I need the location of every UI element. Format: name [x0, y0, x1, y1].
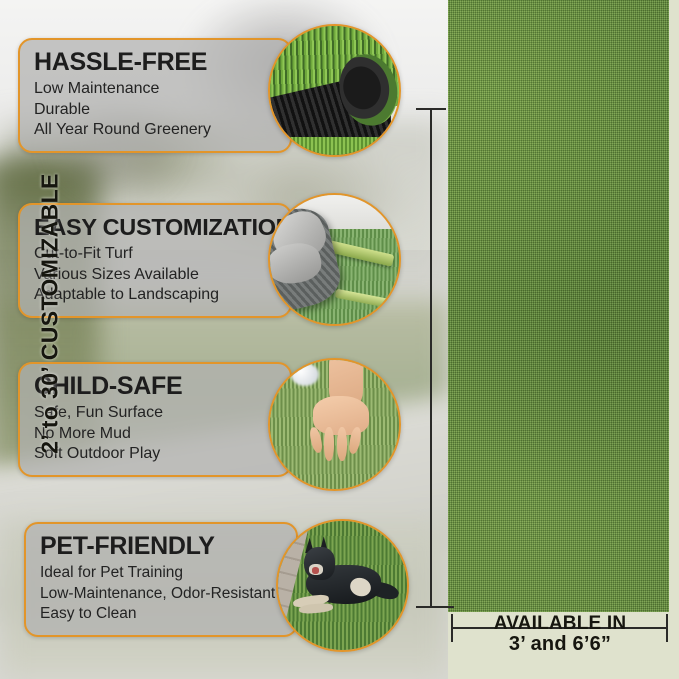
- feature-line: Various Sizes Available: [34, 265, 278, 286]
- turf-roll-photo: [268, 24, 401, 157]
- child-hand-on-grass-photo: [268, 358, 401, 491]
- feature-line: No More Mud: [34, 424, 278, 445]
- feature-line: Low Maintenance: [34, 79, 278, 100]
- feature-line: Low-Maintenance, Odor-Resistant: [40, 584, 284, 605]
- feature-line: All Year Round Greenery: [34, 120, 278, 141]
- child-finger: [337, 427, 347, 461]
- turf-bottom-edge: [268, 137, 401, 157]
- feature-title: PET-FRIENDLY: [40, 533, 284, 560]
- blurred-ball: [291, 363, 319, 386]
- feature-title: CHILD-SAFE: [34, 373, 278, 400]
- turf-swatch: [448, 0, 669, 612]
- length-measure-line: [430, 108, 432, 608]
- installer-rolling-turf-photo: [268, 193, 401, 326]
- feature-title: HASSLE-FREE: [34, 49, 278, 76]
- feature-line: Ideal for Pet Training: [40, 563, 284, 584]
- feature-line: Durable: [34, 100, 278, 121]
- feature-title: EASY CUSTOMIZATION: [34, 214, 278, 241]
- length-measure-label: 2’ to 30’ CUSTOMIZABLE: [37, 154, 64, 474]
- width-label-line2: 3’ and 6’6”: [448, 634, 672, 655]
- measure-corner-connector: [430, 606, 454, 608]
- dog-lying-on-grass-photo: [276, 519, 409, 652]
- feature-card-pet-friendly: PET-FRIENDLY Ideal for Pet Training Low-…: [24, 522, 298, 637]
- feature-line: Adaptable to Landscaping: [34, 285, 278, 306]
- feature-line: Easy to Clean: [40, 604, 284, 625]
- width-label-line1: AVAILABLE IN: [448, 613, 672, 634]
- dog-mouth: [312, 567, 320, 573]
- product-infographic: HASSLE-FREE Low Maintenance Durable All …: [0, 0, 679, 679]
- child-finger: [324, 427, 334, 461]
- width-measure-label: AVAILABLE IN 3’ and 6’6”: [448, 613, 672, 655]
- feature-card-hassle-free: HASSLE-FREE Low Maintenance Durable All …: [18, 38, 292, 153]
- feature-line: Safe, Fun Surface: [34, 403, 278, 424]
- feature-line: Soft Outdoor Play: [34, 444, 278, 465]
- feature-line: Cut-to-Fit Turf: [34, 244, 278, 265]
